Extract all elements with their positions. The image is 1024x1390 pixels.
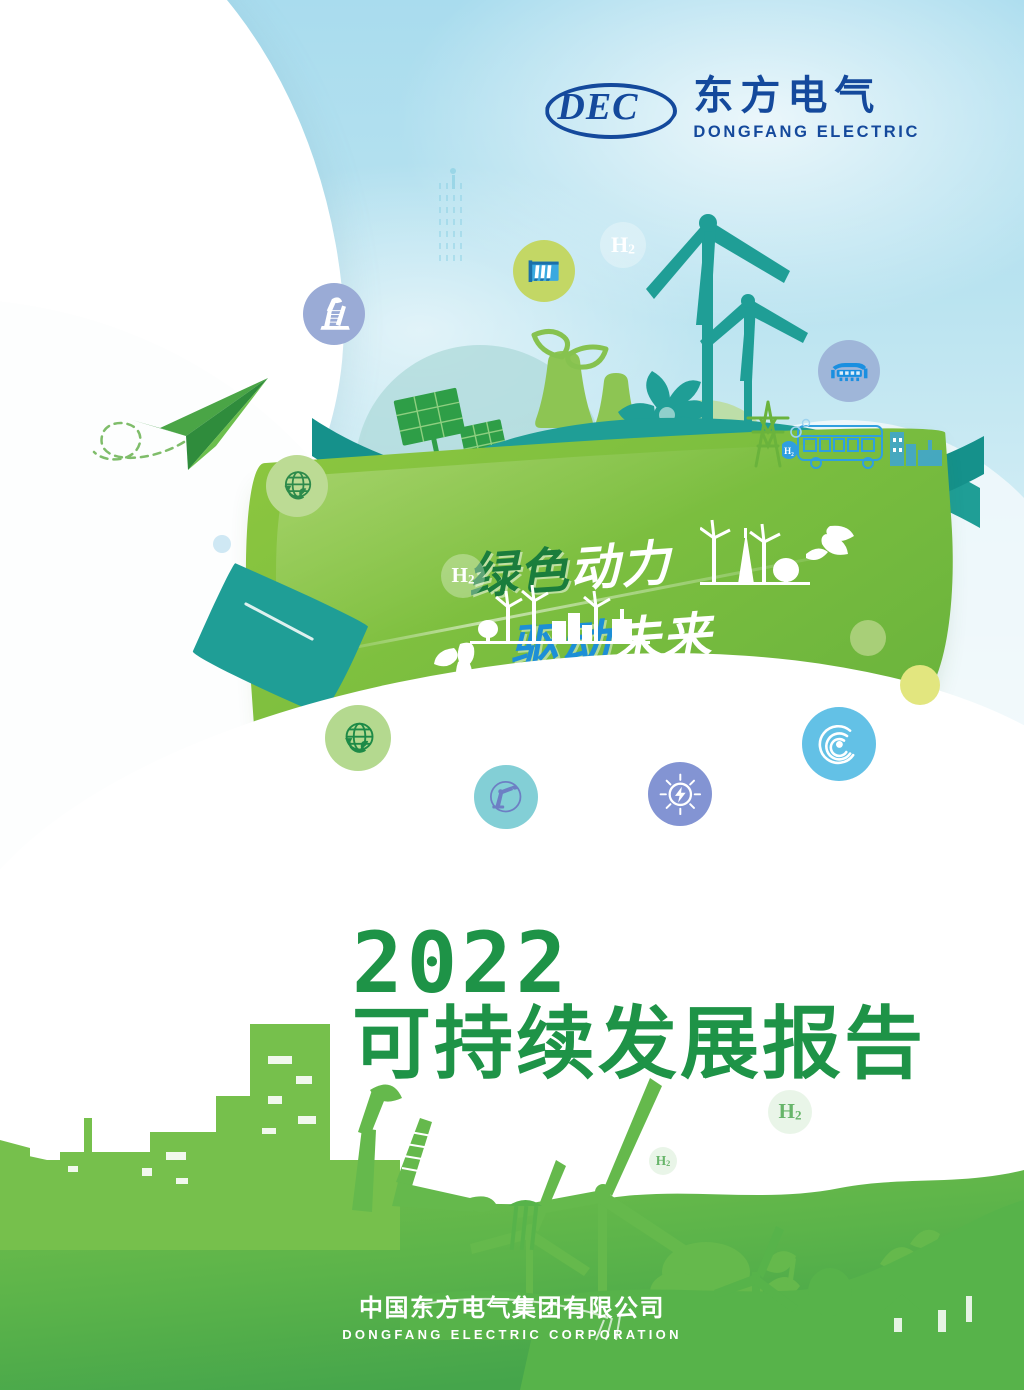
leaf-sprig-white-right bbox=[800, 520, 860, 568]
h2-bubble-leaf: H2 bbox=[441, 554, 485, 598]
factory-blue bbox=[888, 426, 946, 468]
footer-company-en: DONGFANG ELECTRIC CORPORATION bbox=[0, 1327, 1024, 1342]
decor-dot-green bbox=[850, 620, 886, 656]
brand-name-en: DONGFANG ELECTRIC bbox=[693, 123, 920, 142]
oil-pumpjack-icon bbox=[303, 283, 365, 345]
slogan-skyline-left bbox=[470, 585, 670, 647]
solar-power-icon bbox=[648, 762, 712, 826]
hydro-dam-icon bbox=[513, 240, 575, 302]
title-year: 2022 bbox=[352, 925, 926, 1002]
rail-transit-icon bbox=[818, 340, 880, 402]
nuclear-wave-icon bbox=[802, 707, 876, 781]
h2-bubble-top: H2 bbox=[600, 222, 646, 268]
decor-dot-blue bbox=[213, 535, 231, 553]
dec-logo-mark: DEC bbox=[545, 81, 677, 137]
brand-name-cn: 东方电气 bbox=[693, 76, 920, 116]
brand-logo: DEC 东方电气 DONGFANG ELECTRIC bbox=[545, 76, 920, 142]
dotted-grid-decor bbox=[425, 165, 485, 295]
recycle-globe-icon-2 bbox=[325, 705, 391, 771]
footer-company-cn: 中国东方电气集团有限公司 bbox=[0, 1288, 1024, 1323]
decor-dot-yellow bbox=[900, 665, 940, 705]
recycle-globe-icon bbox=[266, 455, 328, 517]
slogan-skyline-right bbox=[700, 518, 810, 590]
paper-plane bbox=[88, 372, 288, 482]
hydrogen-bus: H₂ bbox=[782, 418, 902, 472]
robot-arm-icon bbox=[474, 765, 538, 829]
brand-name-block: 东方电气 DONGFANG ELECTRIC bbox=[693, 76, 920, 142]
dec-monogram: DEC bbox=[557, 85, 638, 129]
footer-block: 中国东方电气集团有限公司 DONGFANG ELECTRIC CORPORATI… bbox=[0, 1288, 1024, 1342]
svg-text:H₂: H₂ bbox=[784, 446, 794, 456]
h2-bubble-mid: H2 bbox=[736, 868, 776, 908]
report-cover-poster: DEC 东方电气 DONGFANG ELECTRIC bbox=[0, 0, 1024, 1390]
